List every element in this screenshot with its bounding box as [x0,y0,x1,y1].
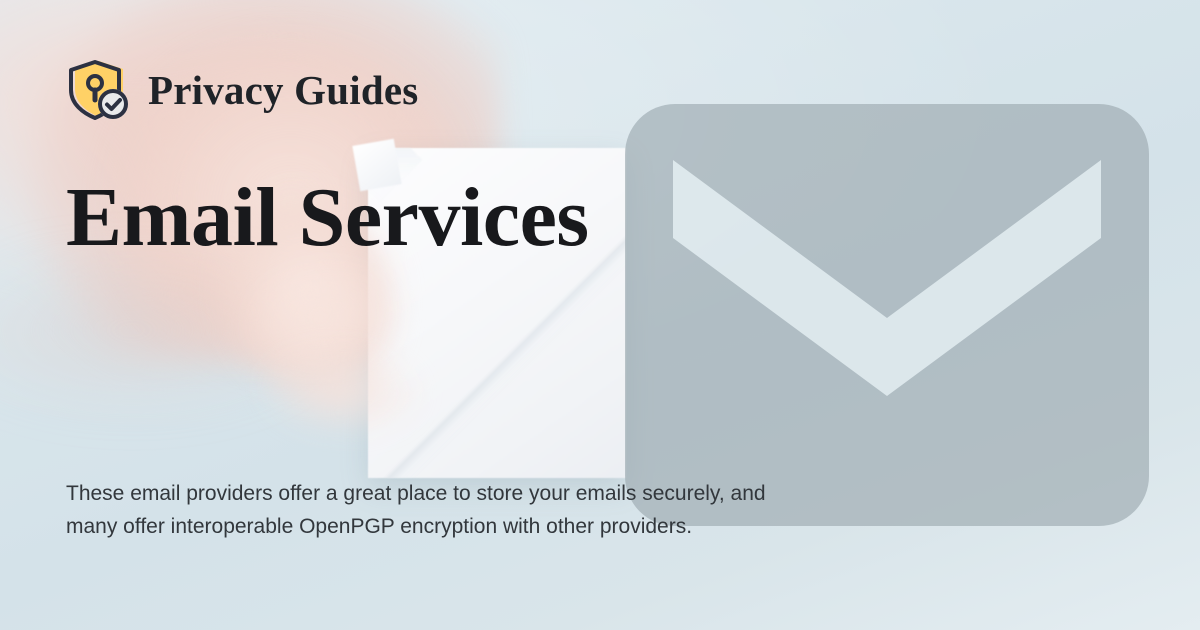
envelope-chevron [673,160,1101,396]
envelope-mail-icon [625,104,1149,526]
brand-name: Privacy Guides [148,70,418,111]
page-title: Email Services [66,176,589,260]
shield-keyhole-check-icon [66,57,132,123]
page-description: These email providers offer a great plac… [66,477,896,543]
description-line-1: These email providers offer a great plac… [66,477,896,510]
description-line-2: many offer interoperable OpenPGP encrypt… [66,510,896,543]
brand-row: Privacy Guides [66,57,418,123]
social-card: Privacy Guides Email Services These emai… [0,0,1200,630]
